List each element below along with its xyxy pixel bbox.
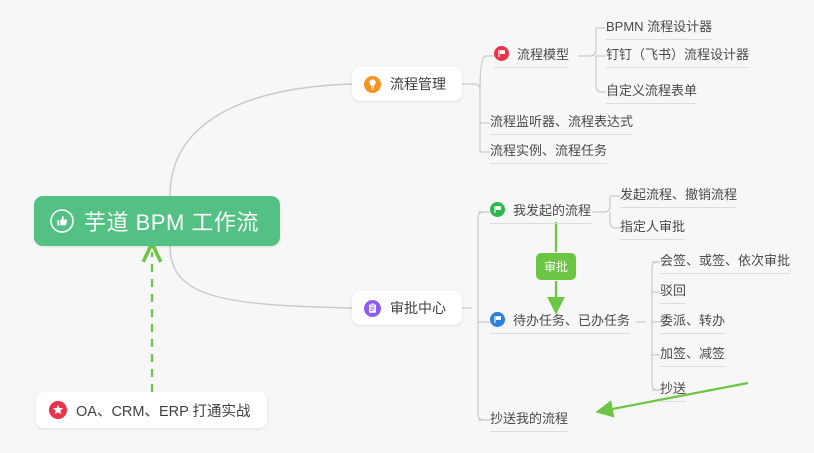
leaf-instance-task[interactable]: 流程实例、流程任务 [490, 140, 607, 164]
root-node[interactable]: 芋道 BPM 工作流 [34, 196, 280, 246]
connector-liucheng-to-model [480, 56, 494, 90]
star-icon [49, 401, 67, 419]
connector-mine-spine [592, 196, 610, 212]
leaf-start-cancel-flow[interactable]: 发起流程、撤销流程 [620, 184, 737, 208]
leaf-custom-form[interactable]: 自定义流程表单 [606, 80, 697, 104]
leaf-bpmn-designer[interactable]: BPMN 流程设计器 [606, 16, 712, 40]
subnode-label: 流程模型 [517, 44, 569, 63]
thumbs-up-icon [50, 209, 74, 233]
note-label: OA、CRM、ERP 打通实战 [76, 400, 251, 421]
chip-label: 审批 [544, 258, 568, 275]
branch-label: 审批中心 [390, 298, 446, 318]
connector-todo-vertical [652, 262, 658, 390]
note-oa-crm-erp[interactable]: OA、CRM、ERP 打通实战 [36, 392, 267, 428]
subnode-liucheng-moxing[interactable]: 流程模型 [494, 44, 569, 68]
flag-icon [490, 202, 505, 217]
leaf-reject[interactable]: 驳回 [660, 280, 686, 304]
leaf-cc[interactable]: 抄送 [660, 378, 686, 402]
connector-root-to-liucheng [170, 84, 352, 196]
connector-liucheng-spine [462, 84, 480, 152]
flag-icon [494, 46, 509, 61]
annotation-chip-approval: 审批 [536, 253, 576, 280]
connector-model-spine [578, 28, 596, 56]
connector-mine-spine-down [610, 212, 620, 228]
branch-label: 流程管理 [390, 74, 446, 94]
leaf-countersign-approval[interactable]: 会签、或签、依次审批 [660, 250, 790, 274]
leaf-dingtalk-designer[interactable]: 钉钉（飞书）流程设计器 [606, 44, 749, 68]
leaf-listener-expression[interactable]: 流程监听器、流程表达式 [490, 111, 633, 135]
root-label: 芋道 BPM 工作流 [84, 205, 259, 237]
leaf-add-remove-sign[interactable]: 加签、减签 [660, 343, 725, 367]
clipboard-icon [364, 300, 381, 317]
subnode-label: 我发起的流程 [513, 200, 591, 219]
leaf-assigned-approval[interactable]: 指定人审批 [620, 216, 685, 240]
branch-shenpi-zhongxin[interactable]: 审批中心 [352, 291, 462, 325]
leaf-cc-to-me-flows[interactable]: 抄送我的流程 [490, 408, 568, 432]
lightbulb-icon [364, 76, 381, 93]
leaf-delegate-transfer[interactable]: 委派、转办 [660, 310, 725, 334]
subnode-todo-done-tasks[interactable]: 待办任务、已办任务 [490, 310, 630, 334]
branch-liucheng-guanli[interactable]: 流程管理 [352, 67, 462, 101]
subnode-my-initiated-flows[interactable]: 我发起的流程 [490, 200, 591, 224]
subnode-label: 待办任务、已办任务 [513, 310, 630, 329]
mindmap-canvas: 芋道 BPM 工作流 流程管理 流程模型 BPMN 流程设计器 钉钉（飞书）流程… [0, 0, 814, 453]
connector-shenpi-vertical [478, 212, 484, 420]
flag-icon [490, 312, 505, 327]
connector-model-spine-down [596, 56, 606, 92]
connector-root-to-shenpi [170, 246, 352, 308]
